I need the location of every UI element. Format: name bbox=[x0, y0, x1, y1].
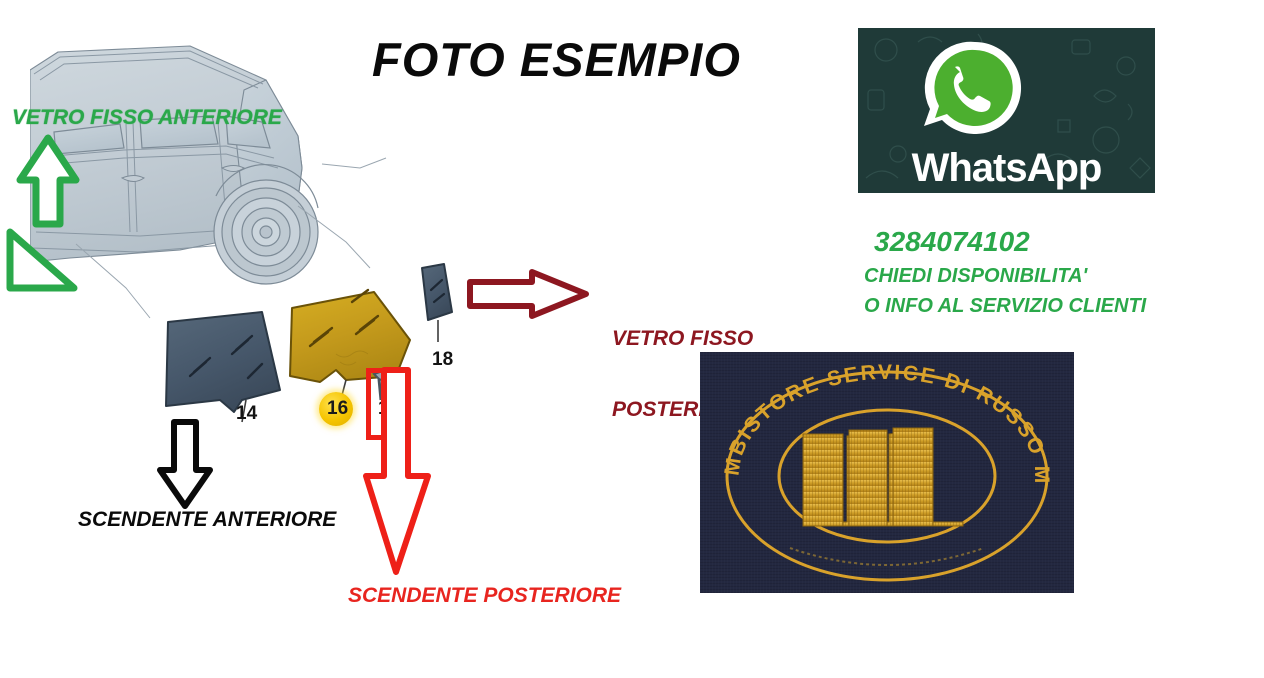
whatsapp-wordmark: WhatsApp bbox=[858, 146, 1155, 191]
page-title: FOTO ESEMPIO bbox=[372, 36, 802, 83]
part-number-16: 16 bbox=[327, 398, 348, 420]
whatsapp-banner[interactable]: WhatsApp bbox=[858, 28, 1155, 193]
brand-logo-panel: MRICAMBISTORE SERVICE DI RUSSO MARCO m bbox=[700, 352, 1074, 593]
part-number-17: 17 bbox=[378, 398, 399, 420]
part-number-18: 18 bbox=[432, 349, 453, 371]
contact-line-1: CHIEDI DISPONIBILITA' bbox=[864, 265, 1087, 288]
label-front-drop-glass: SCENDENTE ANTERIORE bbox=[78, 508, 336, 532]
whatsapp-phone-bubble-icon bbox=[916, 36, 1034, 148]
contact-line-2: O INFO AL SERVIZIO CLIENTI bbox=[864, 295, 1146, 318]
part-number-14: 14 bbox=[236, 403, 257, 425]
label-front-fixed-glass: VETRO FISSO ANTERIORE bbox=[12, 106, 282, 130]
label-rear-drop-glass: SCENDENTE POSTERIORE bbox=[348, 584, 621, 608]
label-rear-fixed-glass-line1: VETRO FISSO bbox=[612, 327, 753, 351]
phone-number[interactable]: 3284074102 bbox=[874, 226, 1030, 258]
brand-emblem: MRICAMBISTORE SERVICE DI RUSSO MARCO m bbox=[700, 352, 1074, 593]
